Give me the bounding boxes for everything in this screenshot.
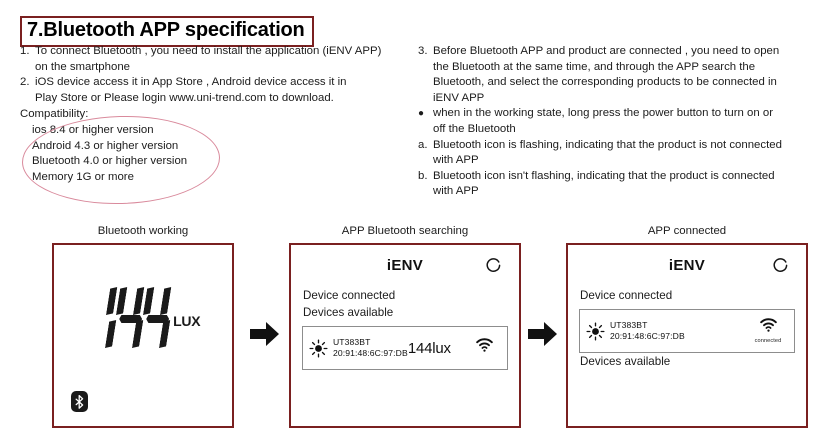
list-line: on the smartphone — [35, 60, 415, 76]
list-item: a. Bluetooth icon is flashing, indicatin… — [418, 138, 818, 169]
app-screen-searching: iENV Device connected Devices available — [289, 243, 521, 428]
left-text-column: 1. To connect Bluetooth , you need to in… — [20, 44, 415, 185]
list-text: iOS device access it in App Store , Andr… — [35, 75, 415, 106]
device-mac-address: 20:91:48:6C:97:DB — [610, 331, 685, 342]
list-line: Bluetooth icon isn't flashing, indicatin… — [433, 169, 818, 185]
list-text: when in the working state, long press th… — [433, 106, 818, 137]
compatibility-item-memory: Memory 1G or more — [32, 170, 415, 186]
panel-searching: APP Bluetooth searching iENV Device conn… — [289, 225, 521, 428]
list-text: Bluetooth icon is flashing, indicating t… — [433, 138, 818, 169]
signal-indicator: connected — [746, 318, 794, 344]
label-device-connected: Device connected — [568, 287, 806, 304]
lcd-digit — [90, 285, 116, 351]
lcd-digit — [144, 285, 170, 351]
compatibility-item-ios: ios 8.4 or higher version — [32, 123, 415, 139]
panel-caption-searching: APP Bluetooth searching — [289, 225, 521, 239]
compatibility-item-android: Android 4.3 or higher version — [32, 139, 415, 155]
page-title: 7.Bluetooth APP specification — [20, 16, 314, 47]
list-line: when in the working state, long press th… — [433, 106, 818, 122]
bluetooth-icon — [71, 391, 88, 412]
bullet-icon: ● — [418, 106, 433, 122]
panel-meter: Bluetooth working — [52, 225, 234, 428]
flow-arrow-icon — [528, 321, 558, 347]
sun-icon — [580, 322, 610, 341]
list-item: ● when in the working state, long press … — [418, 106, 818, 137]
list-line: iOS device access it in App Store , Andr… — [35, 75, 415, 91]
list-item: 1. To connect Bluetooth , you need to in… — [20, 44, 415, 75]
device-name: UT383BT — [333, 337, 408, 348]
list-text: To connect Bluetooth , you need to insta… — [35, 44, 415, 75]
list-line: off the Bluetooth — [433, 122, 818, 138]
lcd-reading: LUX — [90, 285, 200, 351]
right-text-column: 3. Before Bluetooth APP and product are … — [418, 44, 818, 200]
signal-indicator — [463, 338, 511, 358]
list-line: Before Bluetooth APP and product are con… — [433, 44, 818, 60]
app-header: iENV — [568, 253, 806, 287]
list-item[interactable]: UT383BT 20:91:48:6C:97:DB 144lux — [302, 326, 508, 370]
list-line: Bluetooth, and select the corresponding … — [433, 75, 818, 91]
lcd-digit — [117, 285, 143, 351]
list-item: 2. iOS device access it in App Store , A… — [20, 75, 415, 106]
meter-screen: LUX — [52, 243, 234, 428]
refresh-icon[interactable] — [771, 257, 790, 276]
list-marker: a. — [418, 138, 433, 154]
flow-arrow-icon — [250, 321, 280, 347]
list-text: Before Bluetooth APP and product are con… — [433, 44, 818, 106]
device-reading-value: 144lux — [408, 340, 463, 357]
label-device-connected: Device connected — [291, 287, 519, 304]
list-item: 3. Before Bluetooth APP and product are … — [418, 44, 818, 106]
list-line: Bluetooth icon is flashing, indicating t… — [433, 138, 818, 154]
device-name: UT383BT — [610, 320, 685, 331]
compatibility-item-bluetooth: Bluetooth 4.0 or higher version — [32, 154, 415, 170]
list-line: with APP — [433, 153, 818, 169]
label-devices-available: Devices available — [568, 353, 806, 370]
device-meta: UT383BT 20:91:48:6C:97:DB — [610, 320, 685, 342]
lcd-area: LUX — [54, 245, 232, 426]
illustration-row: Bluetooth working — [0, 225, 824, 435]
list-line: the Bluetooth at the same time, and thro… — [433, 60, 818, 76]
list-marker: 2. — [20, 75, 35, 91]
list-marker: b. — [418, 169, 433, 185]
list-text: Bluetooth icon isn't flashing, indicatin… — [433, 169, 818, 200]
app-screen-connected: iENV Device connected — [566, 243, 808, 428]
list-line: Play Store or Please login www.uni-trend… — [35, 91, 415, 107]
refresh-icon[interactable] — [484, 257, 503, 276]
panel-caption-connected: APP connected — [566, 225, 808, 239]
list-line: To connect Bluetooth , you need to insta… — [35, 44, 415, 60]
lcd-unit-label: LUX — [173, 313, 200, 329]
signal-status-label: connected — [746, 338, 790, 344]
app-header: iENV — [291, 253, 519, 287]
panel-caption-meter: Bluetooth working — [52, 225, 234, 239]
list-item[interactable]: UT383BT 20:91:48:6C:97:DB connected — [579, 309, 795, 353]
compatibility-heading: Compatibility: — [20, 107, 415, 123]
list-line: iENV APP — [433, 91, 818, 107]
label-devices-available: Devices available — [291, 304, 519, 321]
device-mac-address: 20:91:48:6C:97:DB — [333, 348, 408, 359]
list-marker: 1. — [20, 44, 35, 60]
list-marker: 3. — [418, 44, 433, 60]
device-meta: UT383BT 20:91:48:6C:97:DB — [333, 337, 408, 359]
panel-connected: APP connected iENV Device connected — [566, 225, 808, 428]
list-item: b. Bluetooth icon isn't flashing, indica… — [418, 169, 818, 200]
list-line: with APP — [433, 184, 818, 200]
sun-icon — [303, 339, 333, 358]
